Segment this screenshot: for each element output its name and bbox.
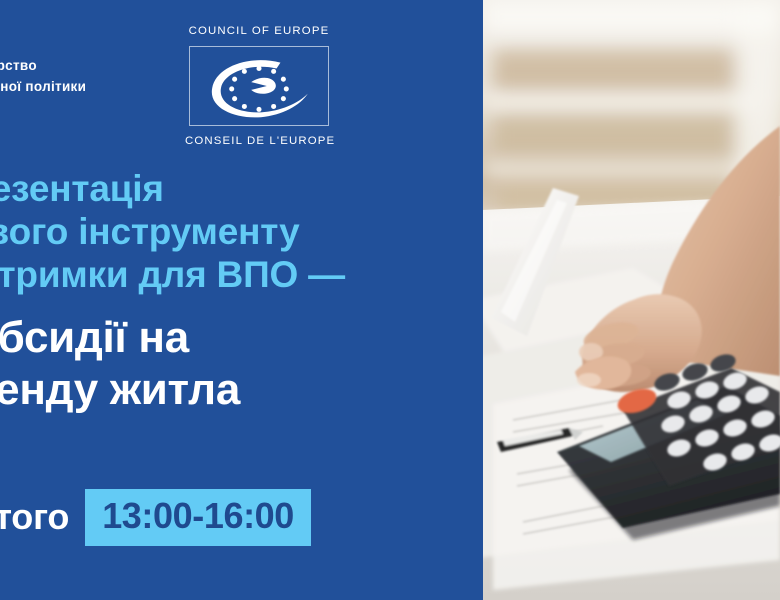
event-date: лютого — [0, 496, 69, 538]
council-of-europe-logo: COUNCIL OF EUROPE — [185, 25, 333, 147]
logo-header: Міністерство соціальної політики України… — [0, 18, 366, 146]
banner-photo — [483, 0, 780, 600]
content-panel: Міністерство соціальної політики України… — [0, 0, 483, 600]
datetime-block: лютого 13:00-16:00 — [0, 489, 311, 546]
event-banner: Міністерство соціальної політики України… — [0, 0, 780, 600]
headline-subtitle: Презентація нового інструменту підтримки… — [0, 168, 483, 297]
headline-title: Субсидії на оренду житла — [0, 312, 483, 416]
coe-logo-top-text: COUNCIL OF EUROPE — [185, 25, 333, 37]
coe-logo-bottom-text: CONSEIL DE L'EUROPE — [185, 135, 333, 147]
coe-emblem-icon — [189, 46, 329, 126]
headline-block: Презентація нового інструменту підтримки… — [0, 168, 483, 416]
event-time-badge: 13:00-16:00 — [85, 489, 311, 546]
ministry-name: Міністерство соціальної політики України — [0, 56, 161, 118]
